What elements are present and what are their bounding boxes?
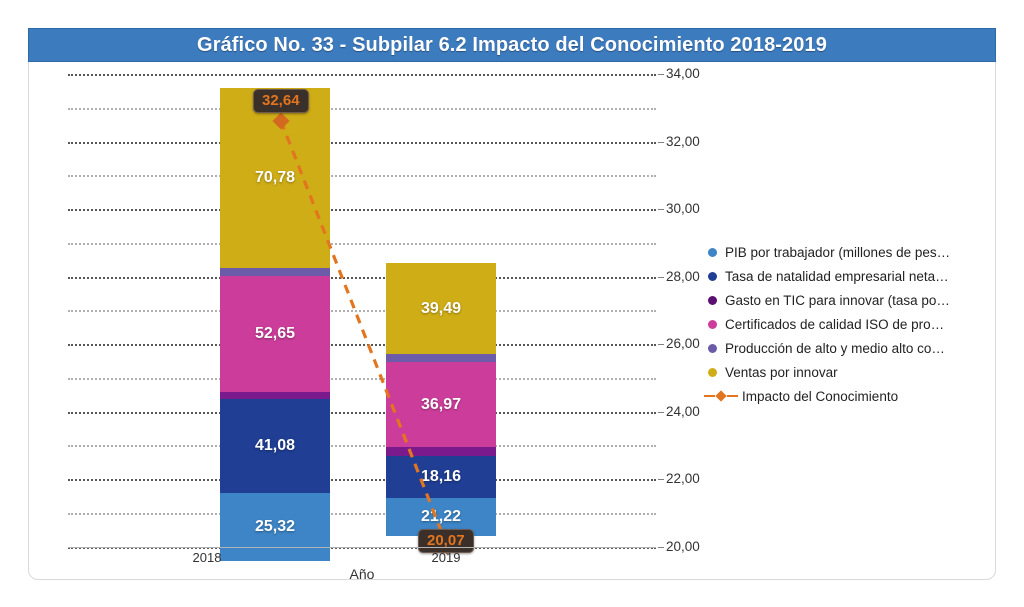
gridline-34 — [68, 74, 656, 76]
page-title: Gráfico No. 33 - Subpilar 6.2 Impacto de… — [197, 34, 827, 57]
y-tick-mark — [658, 142, 664, 143]
y-tick-mark — [658, 74, 664, 75]
y-axis-label: 24,00 — [666, 404, 700, 419]
legend-item-label: Gasto en TIC para innovar (tasa po… — [725, 293, 950, 308]
gridline-23 — [68, 445, 656, 447]
y-axis-label: 20,00 — [666, 539, 700, 554]
gridline-24 — [68, 412, 656, 414]
y-tick-mark — [658, 344, 664, 345]
y-axis-label: 22,00 — [666, 471, 700, 486]
gridline-25 — [68, 378, 656, 380]
x-axis-tick-2018: 2018 — [167, 550, 247, 565]
data-label-impacto-2018: 32,64 — [253, 89, 309, 113]
bar-segment-natalidad-2018[interactable]: 41,08 — [220, 399, 330, 493]
bar-segment-certificados-2019[interactable]: 36,97 — [386, 362, 496, 447]
chart-title-bar: Gráfico No. 33 - Subpilar 6.2 Impacto de… — [28, 28, 996, 62]
data-label-value: 32,64 — [262, 92, 300, 109]
x-axis-title: Año — [68, 566, 656, 582]
legend-item-label: Tasa de natalidad empresarial neta… — [725, 269, 949, 284]
series-color-swatch-icon — [704, 296, 720, 305]
legend-item-pib[interactable]: PIB por trabajador (millones de pes… — [704, 240, 994, 264]
gridline-30 — [68, 209, 656, 211]
bar-segment-certificados-2018[interactable]: 52,65 — [220, 276, 330, 392]
legend-item-certificados[interactable]: Certificados de calidad ISO de pro… — [704, 312, 994, 336]
gridline-28 — [68, 277, 656, 279]
x-axis-line — [68, 547, 656, 548]
gridline-22 — [68, 479, 656, 481]
bar-segment-natalidad-2019[interactable]: 18,16 — [386, 456, 496, 498]
legend-item-label: Producción de alto y medio alto co… — [725, 341, 945, 356]
legend-item-ventas[interactable]: Ventas por innovar — [704, 360, 994, 384]
bar-2019[interactable]: 39,49 36,97 18,16 21,22 — [386, 263, 496, 547]
bar-segment-label: 39,49 — [421, 300, 461, 318]
legend-item-gasto-tic[interactable]: Gasto en TIC para innovar (tasa po… — [704, 288, 994, 312]
gridline-31 — [68, 175, 656, 177]
legend-item-impacto[interactable]: Impacto del Conocimiento — [704, 384, 994, 408]
bar-segment-produccion-2018[interactable] — [220, 268, 330, 276]
y-tick-mark — [658, 209, 664, 210]
bar-segment-label: 36,97 — [421, 396, 461, 414]
series-color-swatch-icon — [704, 344, 720, 353]
bar-segment-label: 52,65 — [255, 325, 295, 343]
bar-segment-label: 18,16 — [421, 468, 461, 486]
legend-item-label: Impacto del Conocimiento — [742, 389, 898, 404]
y-axis-label: 26,00 — [666, 336, 700, 351]
series-color-swatch-icon — [704, 368, 720, 377]
series-color-swatch-icon — [704, 272, 720, 281]
bar-segment-gasto-tic-2018[interactable] — [220, 392, 330, 399]
y-tick-mark — [658, 479, 664, 480]
legend-item-natalidad[interactable]: Tasa de natalidad empresarial neta… — [704, 264, 994, 288]
gridline-27 — [68, 310, 656, 312]
plot-area: 70,78 52,65 41,08 25,32 39,49 36,97 18,1… — [68, 74, 656, 547]
bar-segment-label: 21,22 — [421, 508, 461, 526]
dashed-line-diamond-icon — [704, 391, 738, 401]
legend-item-label: PIB por trabajador (millones de pes… — [725, 245, 950, 260]
legend-item-produccion[interactable]: Producción de alto y medio alto co… — [704, 336, 994, 360]
bar-segment-gasto-tic-2019[interactable] — [386, 447, 496, 456]
series-color-swatch-icon — [704, 248, 720, 257]
gridline-33 — [68, 108, 656, 110]
y-axis-label: 30,00 — [666, 201, 700, 216]
x-axis-tick-2019: 2019 — [406, 550, 486, 565]
legend: PIB por trabajador (millones de pes… Tas… — [704, 240, 994, 408]
bar-segment-ventas-2018[interactable]: 70,78 — [220, 88, 330, 268]
gridline-26 — [68, 344, 656, 346]
y-tick-mark — [658, 277, 664, 278]
gridline-21 — [68, 513, 656, 515]
gridline-32 — [68, 142, 656, 144]
bar-segment-produccion-2019[interactable] — [386, 354, 496, 362]
bar-2018[interactable]: 70,78 52,65 41,08 25,32 — [220, 88, 330, 547]
bar-segment-label: 70,78 — [255, 169, 295, 187]
y-axis-label: 28,00 — [666, 269, 700, 284]
gridline-29 — [68, 243, 656, 245]
bar-segment-label: 41,08 — [255, 437, 295, 455]
y-axis-label: 32,00 — [666, 134, 700, 149]
y-axis-label: 34,00 — [666, 66, 700, 81]
legend-item-label: Ventas por innovar — [725, 365, 838, 380]
bar-segment-label: 25,32 — [255, 518, 295, 536]
y-tick-mark — [658, 412, 664, 413]
series-color-swatch-icon — [704, 320, 720, 329]
legend-item-label: Certificados de calidad ISO de pro… — [725, 317, 944, 332]
bar-segment-ventas-2019[interactable]: 39,49 — [386, 263, 496, 354]
y-tick-mark — [658, 547, 664, 548]
